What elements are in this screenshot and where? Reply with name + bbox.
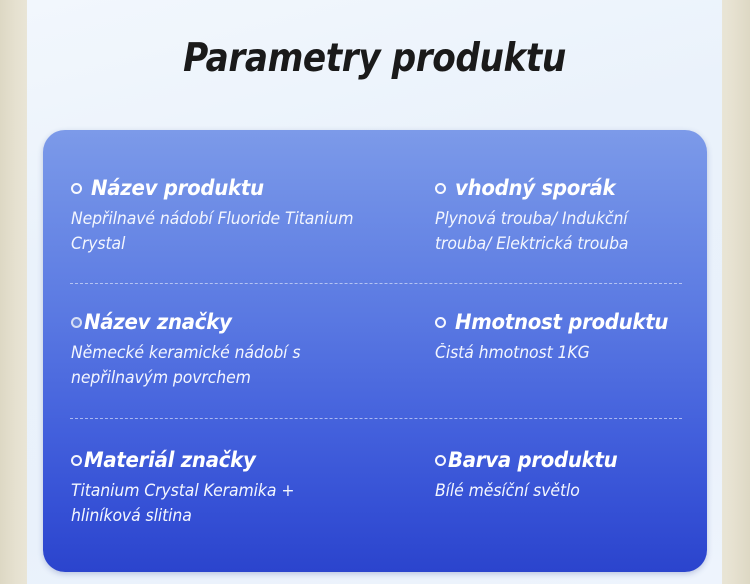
spec-row: Název produktu Nepřilnavé nádobí Fluorid… xyxy=(43,176,707,284)
paper-edge-right xyxy=(722,0,750,584)
circle-ring-icon xyxy=(435,455,446,466)
spec-heading: Barva produktu xyxy=(435,448,707,472)
circle-ring-icon xyxy=(71,183,82,194)
spec-item-barva-produktu: Barva produktu Bílé měsíční světlo xyxy=(423,448,707,556)
spec-item-material-znacky: Materiál značky Titanium Crystal Keramik… xyxy=(43,448,423,556)
row-divider xyxy=(70,418,682,419)
spec-value: Plynová trouba/ Indukční trouba/ Elektri… xyxy=(435,206,682,256)
spec-label: Materiál značky xyxy=(84,448,256,472)
spec-item-vhodny-sporak: vhodný sporák Plynová trouba/ Indukční t… xyxy=(423,176,707,284)
spec-value: Bílé měsíční světlo xyxy=(435,478,682,503)
page-title: Parametry produktu xyxy=(69,36,681,81)
spec-label: Název produktu xyxy=(91,176,264,200)
circle-ring-icon xyxy=(435,317,446,328)
circle-ring-icon xyxy=(71,317,82,328)
spec-value: Německé keramické nádobí s nepřilnavým p… xyxy=(71,340,356,390)
circle-ring-icon xyxy=(435,183,446,194)
spec-label: vhodný sporák xyxy=(455,176,615,200)
spec-label: Barva produktu xyxy=(448,448,617,472)
spec-value: Nepřilnavé nádobí Fluoride Titanium Crys… xyxy=(71,206,356,256)
row-divider xyxy=(70,283,682,284)
spec-row: Název značky Německé keramické nádobí s … xyxy=(43,310,707,418)
spec-row: Materiál značky Titanium Crystal Keramik… xyxy=(43,448,707,556)
spec-item-nazev-produktu: Název produktu Nepřilnavé nádobí Fluorid… xyxy=(43,176,423,284)
circle-ring-icon xyxy=(71,455,82,466)
spec-heading: Název značky xyxy=(71,310,423,334)
spec-heading: vhodný sporák xyxy=(435,176,707,200)
spec-value: Titanium Crystal Keramika + hliníková sl… xyxy=(71,478,356,528)
spec-value: Čistá hmotnost 1KG xyxy=(435,340,682,365)
specs-card: Název produktu Nepřilnavé nádobí Fluorid… xyxy=(43,130,707,572)
specs-rows: Název produktu Nepřilnavé nádobí Fluorid… xyxy=(43,130,707,572)
spec-heading: Název produktu xyxy=(71,176,423,200)
paper-edge-left xyxy=(0,0,27,584)
spec-item-hmotnost-produktu: Hmotnost produktu Čistá hmotnost 1KG xyxy=(423,310,707,418)
spec-heading: Materiál značky xyxy=(71,448,423,472)
page-sheet: Parametry produktu Název produktu Nepřil… xyxy=(27,0,722,584)
spec-label: Název značky xyxy=(84,310,232,334)
spec-item-nazev-znacky: Název značky Německé keramické nádobí s … xyxy=(43,310,423,418)
product-spec-page: Parametry produktu Název produktu Nepřil… xyxy=(0,0,750,584)
spec-heading: Hmotnost produktu xyxy=(435,310,707,334)
spec-label: Hmotnost produktu xyxy=(455,310,668,334)
